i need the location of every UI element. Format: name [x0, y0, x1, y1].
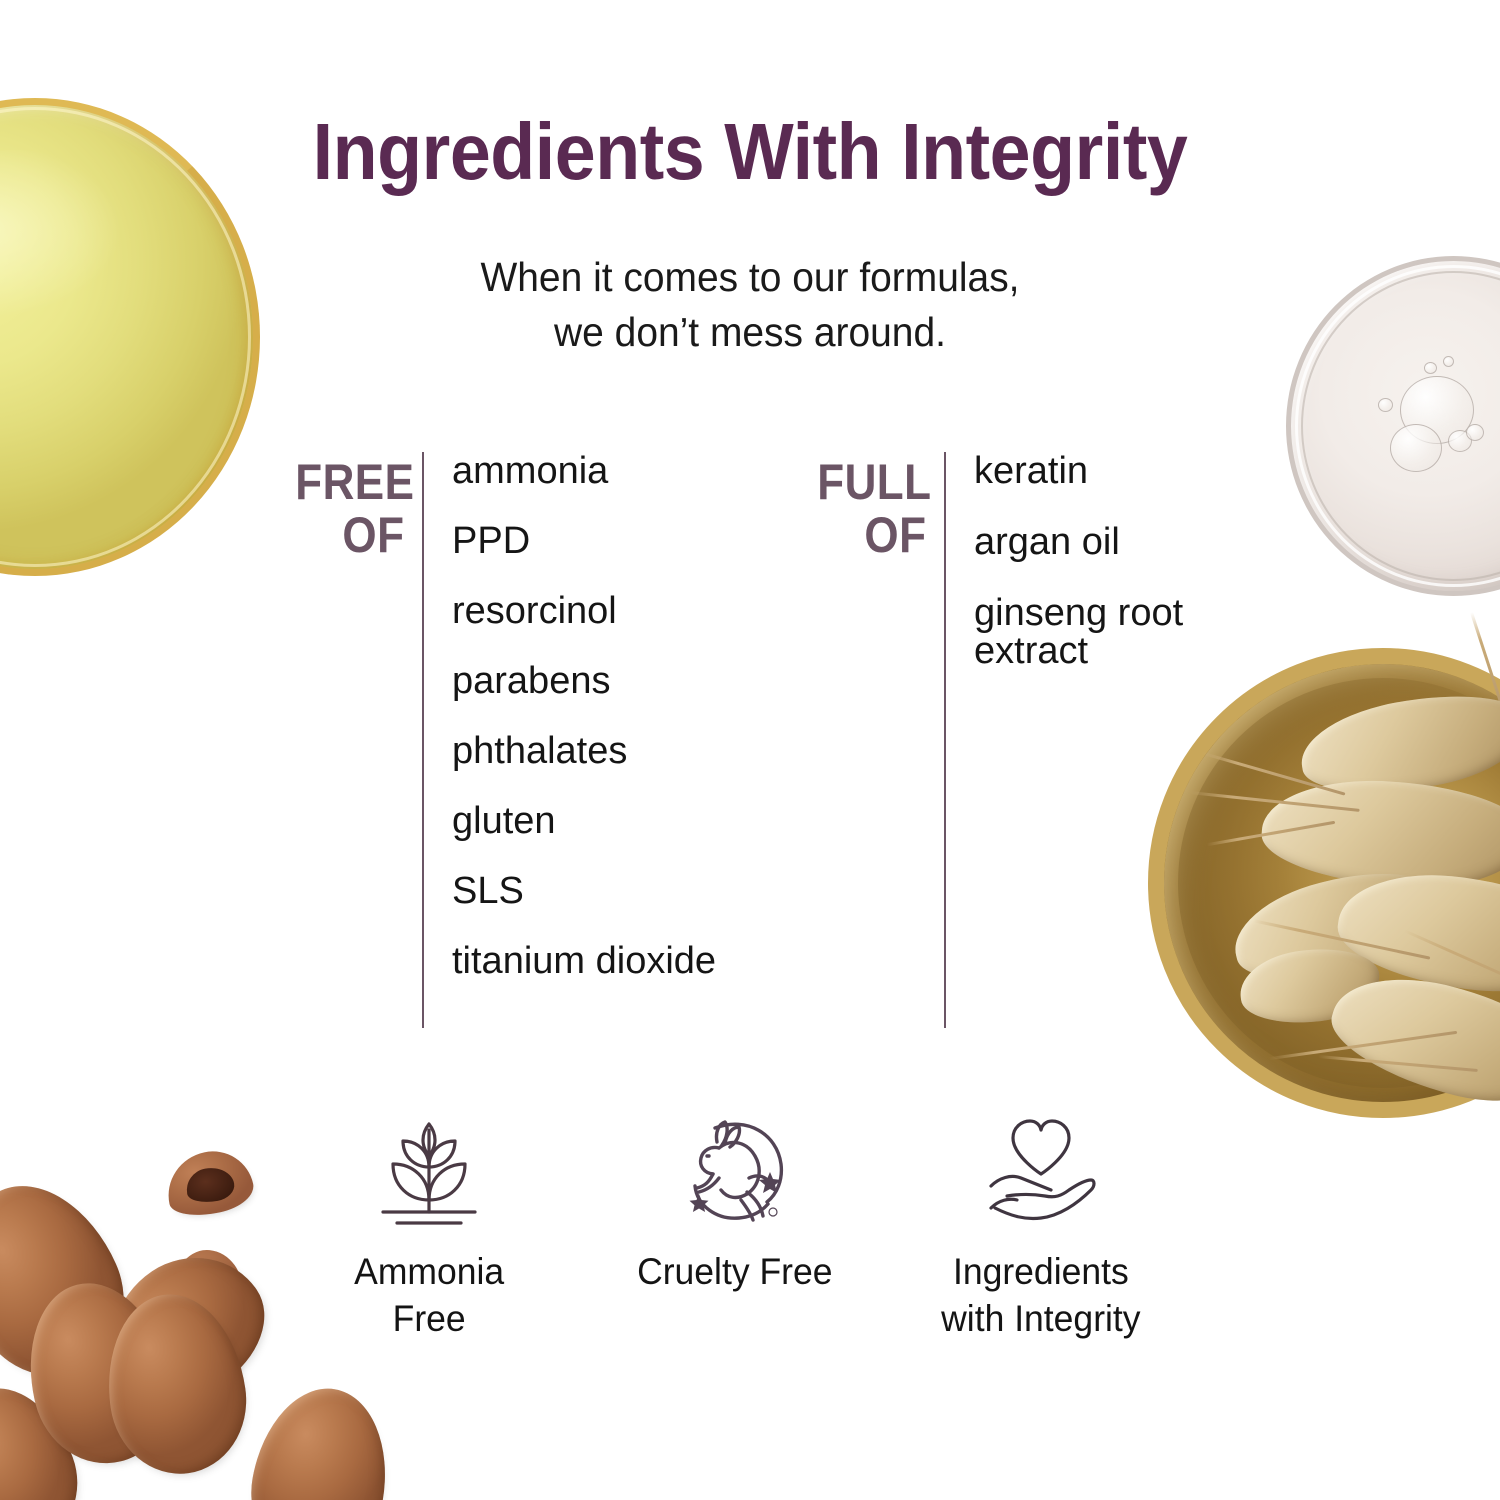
- list-item: resorcinol: [452, 592, 716, 630]
- leaping-bunny-icon: [675, 1112, 795, 1230]
- list-item: keratin: [974, 452, 1183, 490]
- full-of-label-line-2: OF: [817, 509, 926, 562]
- list-item: extract: [974, 632, 1183, 670]
- certification-badges: Ammonia Free: [276, 1112, 1196, 1343]
- subtitle-line-1: When it comes to our formulas,: [38, 250, 1463, 305]
- badge-label-line-2: with Integrity: [941, 1295, 1140, 1342]
- infographic-canvas: Ingredients With Integrity When it comes…: [0, 0, 1500, 1500]
- badge-label-line-2: Free: [354, 1295, 504, 1342]
- badge-label: Ammonia Free: [354, 1248, 504, 1343]
- free-of-column: FREE OF ammonia PPD resorcinol parabens …: [278, 452, 716, 1028]
- list-item: phthalates: [452, 732, 716, 770]
- badge-label-line-1: Cruelty Free: [637, 1248, 832, 1295]
- free-of-label-line-2: OF: [295, 509, 404, 562]
- list-item: SLS: [452, 872, 716, 910]
- badge-ingredients-with-integrity: Ingredients with Integrity: [888, 1112, 1194, 1343]
- full-of-list: keratin argan oil ginseng root extract: [946, 452, 1183, 1028]
- full-of-label: FULL OF: [817, 452, 944, 1028]
- heart-in-hand-icon: [981, 1112, 1101, 1230]
- list-item: PPD: [452, 522, 716, 560]
- list-item: titanium dioxide: [452, 942, 716, 980]
- badge-cruelty-free: Cruelty Free: [582, 1112, 888, 1343]
- free-of-list: ammonia PPD resorcinol parabens phthalat…: [424, 452, 716, 1028]
- free-of-label-line-1: FREE: [295, 456, 404, 509]
- badge-ammonia-free: Ammonia Free: [276, 1112, 582, 1343]
- page-subtitle: When it comes to our formulas, we don’t …: [38, 250, 1463, 359]
- full-of-column: FULL OF keratin argan oil ginseng root e…: [800, 452, 1183, 1028]
- badge-label: Cruelty Free: [637, 1248, 832, 1295]
- list-item: ammonia: [452, 452, 716, 490]
- free-of-label: FREE OF: [295, 452, 422, 1028]
- badge-label-line-1: Ammonia: [354, 1248, 504, 1295]
- page-title: Ingredients With Integrity: [60, 106, 1440, 198]
- badge-label-line-1: Ingredients: [941, 1248, 1140, 1295]
- list-item: gluten: [452, 802, 716, 840]
- list-item: argan oil: [974, 523, 1183, 561]
- list-item: parabens: [452, 662, 716, 700]
- list-item: ginseng root: [974, 594, 1183, 632]
- badge-label: Ingredients with Integrity: [941, 1248, 1140, 1343]
- plant-sprout-icon: [369, 1112, 489, 1230]
- full-of-label-line-1: FULL: [817, 456, 926, 509]
- subtitle-line-2: we don’t mess around.: [38, 305, 1463, 360]
